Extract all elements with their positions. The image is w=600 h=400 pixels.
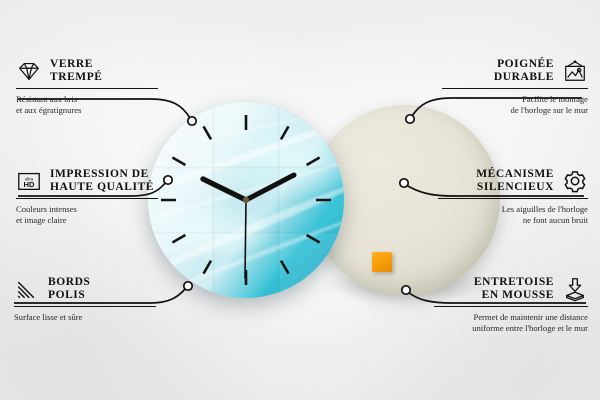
svg-text:HD: HD: [24, 180, 35, 189]
feature-title: BORDS POLIS: [48, 276, 90, 302]
title-divider: [16, 88, 158, 89]
feature-header: POIGNÉE DURABLE: [442, 58, 588, 84]
feature-bords-polis[interactable]: BORDS POLIS Surface lisse et sûre: [14, 276, 156, 323]
feature-description: Résistant aux bris et aux égratignures: [16, 94, 158, 115]
connector-endpoint: [402, 286, 410, 294]
picture-hanger-icon: [562, 58, 588, 84]
feature-description: Facilite le montage de l'horloge sur le …: [442, 94, 588, 115]
diamond-icon: [16, 58, 42, 84]
feature-description: Surface lisse et sûre: [14, 312, 156, 322]
feature-entretoise-en-mousse[interactable]: ENTRETOISE EN MOUSSE Permet de maintenir…: [434, 276, 588, 333]
infographic-canvas: VERRE TREMPÉ Résistant aux bris et aux é…: [0, 0, 600, 400]
feature-header: BORDS POLIS: [14, 276, 156, 302]
feature-poignee-durable[interactable]: POIGNÉE DURABLE Facilite le montage de l…: [442, 58, 588, 115]
gear-icon: [562, 168, 588, 194]
title-divider: [438, 198, 588, 199]
feature-verre-trempe[interactable]: VERRE TREMPÉ Résistant aux bris et aux é…: [16, 58, 158, 115]
feature-title: MÉCANISME SILENCIEUX: [476, 168, 554, 194]
foam-spacer-icon: [562, 276, 588, 302]
connector-endpoint: [188, 117, 196, 125]
feature-header: VERRE TREMPÉ: [16, 58, 158, 84]
title-divider: [442, 88, 588, 89]
feature-title: ENTRETOISE EN MOUSSE: [474, 276, 554, 302]
feature-title: VERRE TREMPÉ: [50, 58, 103, 84]
polished-edge-icon: [14, 276, 40, 302]
connector-endpoint: [184, 282, 192, 290]
title-divider: [434, 306, 588, 307]
feature-header: ENTRETOISE EN MOUSSE: [434, 276, 588, 302]
feature-title: POIGNÉE DURABLE: [494, 58, 554, 84]
connector-endpoint: [406, 115, 414, 123]
title-divider: [16, 198, 158, 199]
feature-description: Les aiguilles de l'horloge ne font aucun…: [438, 204, 588, 225]
feature-impression-haute-qualite[interactable]: ultra HD IMPRESSION DE HAUTE QUALITÉ Cou…: [16, 168, 158, 225]
connector-endpoint: [164, 176, 172, 184]
feature-title: IMPRESSION DE HAUTE QUALITÉ: [50, 168, 154, 194]
ultra-hd-icon: ultra HD: [16, 168, 42, 194]
connector-endpoint: [400, 179, 408, 187]
feature-header: ultra HD IMPRESSION DE HAUTE QUALITÉ: [16, 168, 158, 194]
feature-mecanisme-silencieux[interactable]: MÉCANISME SILENCIEUX Les aiguilles de l'…: [438, 168, 588, 225]
feature-description: Permet de maintenir une distance uniform…: [434, 312, 588, 333]
feature-header: MÉCANISME SILENCIEUX: [438, 168, 588, 194]
title-divider: [14, 306, 156, 307]
feature-description: Couleurs intenses et image claire: [16, 204, 158, 225]
